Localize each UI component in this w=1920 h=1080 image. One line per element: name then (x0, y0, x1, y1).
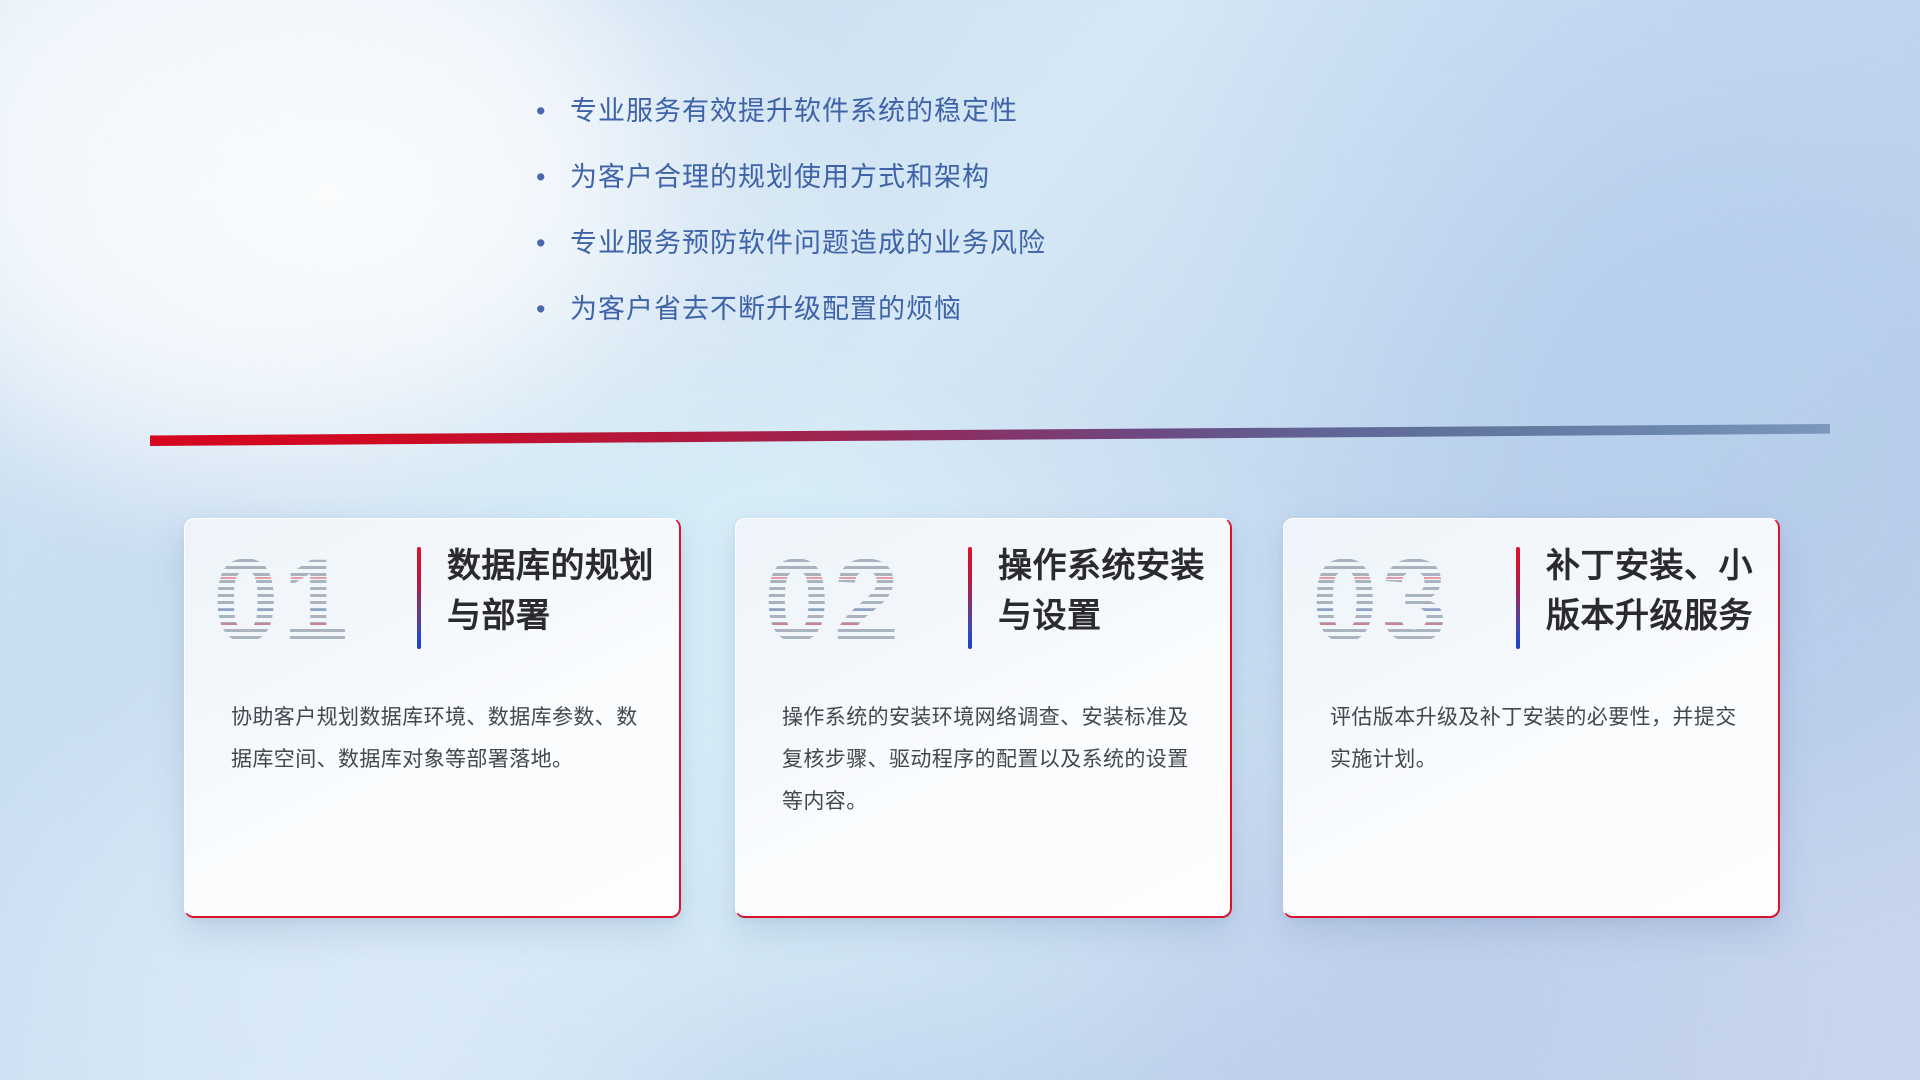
card-title: 操作系统安装与设置 (998, 541, 1208, 641)
card-divider-bar (1516, 547, 1520, 649)
divider-gradient-bar (150, 424, 1830, 446)
service-card[interactable]: 03 补丁安装、小版本升级服务 评估版本升级及补丁安装的必要性，并提交实施计划。 (1283, 518, 1780, 918)
bullet-dot-icon: • (536, 220, 570, 266)
card-divider-bar (968, 547, 972, 649)
card-header: 02 操作系统安装与设置 (736, 519, 1230, 681)
card-body-text: 评估版本升级及补丁安装的必要性，并提交实施计划。 (1330, 697, 1740, 781)
card-number: 02 (764, 531, 903, 671)
section-divider (150, 424, 1830, 446)
list-item: • 专业服务预防软件问题造成的业务风险 (536, 220, 1296, 266)
bullet-text: 专业服务预防软件问题造成的业务风险 (570, 220, 1046, 266)
service-card[interactable]: 01 数据库的规划与部署 协助客户规划数据库环境、数据库参数、数据库空间、数据库… (184, 518, 681, 918)
bullet-text: 为客户省去不断升级配置的烦恼 (570, 286, 962, 332)
card-body-text: 协助客户规划数据库环境、数据库参数、数据库空间、数据库对象等部署落地。 (231, 697, 641, 781)
bullet-text: 为客户合理的规划使用方式和架构 (570, 154, 990, 200)
bullet-text: 专业服务有效提升软件系统的稳定性 (570, 88, 1018, 134)
list-item: • 为客户合理的规划使用方式和架构 (536, 154, 1296, 200)
benefits-bullet-list: • 专业服务有效提升软件系统的稳定性 • 为客户合理的规划使用方式和架构 • 专… (536, 88, 1296, 352)
card-title: 补丁安装、小版本升级服务 (1546, 541, 1756, 641)
service-card[interactable]: 02 操作系统安装与设置 操作系统的安装环境网络调查、安装标准及复核步骤、驱动程… (735, 518, 1232, 918)
card-header: 01 数据库的规划与部署 (185, 519, 679, 681)
card-number: 01 (213, 531, 352, 671)
card-divider-bar (417, 547, 421, 649)
card-body-text: 操作系统的安装环境网络调查、安装标准及复核步骤、驱动程序的配置以及系统的设置等内… (782, 697, 1192, 823)
bullet-dot-icon: • (536, 88, 570, 134)
card-number: 03 (1312, 531, 1451, 671)
list-item: • 为客户省去不断升级配置的烦恼 (536, 286, 1296, 332)
service-card-group: 01 数据库的规划与部署 协助客户规划数据库环境、数据库参数、数据库空间、数据库… (0, 518, 1920, 918)
card-title: 数据库的规划与部署 (447, 541, 657, 641)
card-header: 03 补丁安装、小版本升级服务 (1284, 519, 1778, 681)
bullet-dot-icon: • (536, 154, 570, 200)
list-item: • 专业服务有效提升软件系统的稳定性 (536, 88, 1296, 134)
bullet-dot-icon: • (536, 286, 570, 332)
